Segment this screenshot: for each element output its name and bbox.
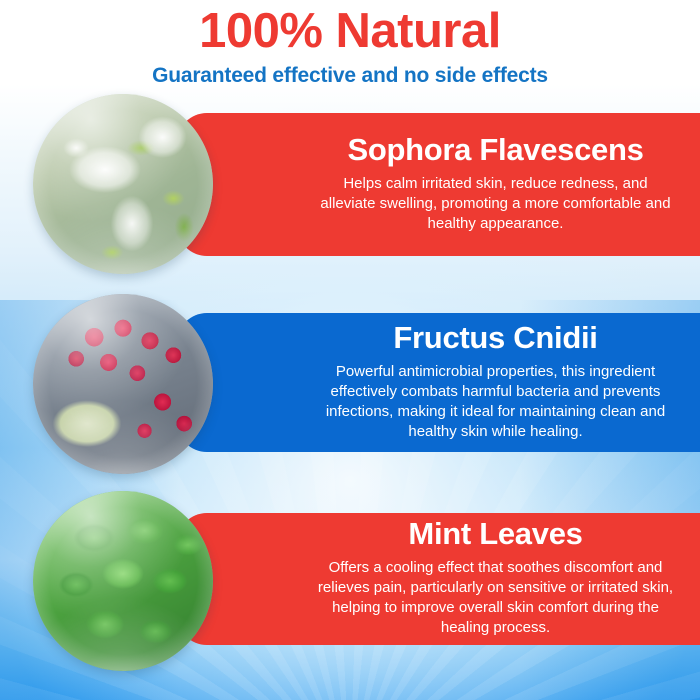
ingredient-image-3 bbox=[33, 491, 213, 671]
poster-header: 100% Natural Guaranteed effective and no… bbox=[0, 6, 700, 89]
ingredient-title-2: Fructus Cnidii bbox=[393, 321, 597, 356]
page-subtitle: Guaranteed effective and no side effects bbox=[0, 63, 700, 88]
ingredient-band-3: Mint Leaves Offers a cooling effect that… bbox=[177, 513, 700, 645]
ingredient-title-3: Mint Leaves bbox=[408, 517, 582, 552]
ingredient-image-2 bbox=[33, 294, 213, 474]
ingredient-description-1: Helps calm irritated skin, reduce rednes… bbox=[317, 174, 674, 234]
natural-ingredients-poster: 100% Natural Guaranteed effective and no… bbox=[0, 0, 700, 700]
ingredient-band-2: Fructus Cnidii Powerful antimicrobial pr… bbox=[177, 313, 700, 452]
page-title: 100% Natural bbox=[0, 6, 700, 57]
fructus-cnidii-photo bbox=[33, 294, 213, 474]
ingredient-title-1: Sophora Flavescens bbox=[347, 133, 643, 168]
ingredient-description-2: Powerful antimicrobial properties, this … bbox=[317, 362, 674, 442]
ingredient-image-1 bbox=[33, 94, 213, 274]
sophora-flavescens-photo bbox=[33, 94, 213, 274]
ingredient-description-3: Offers a cooling effect that soothes dis… bbox=[317, 558, 674, 638]
mint-leaves-photo bbox=[33, 491, 213, 671]
ingredient-band-1: Sophora Flavescens Helps calm irritated … bbox=[177, 113, 700, 256]
